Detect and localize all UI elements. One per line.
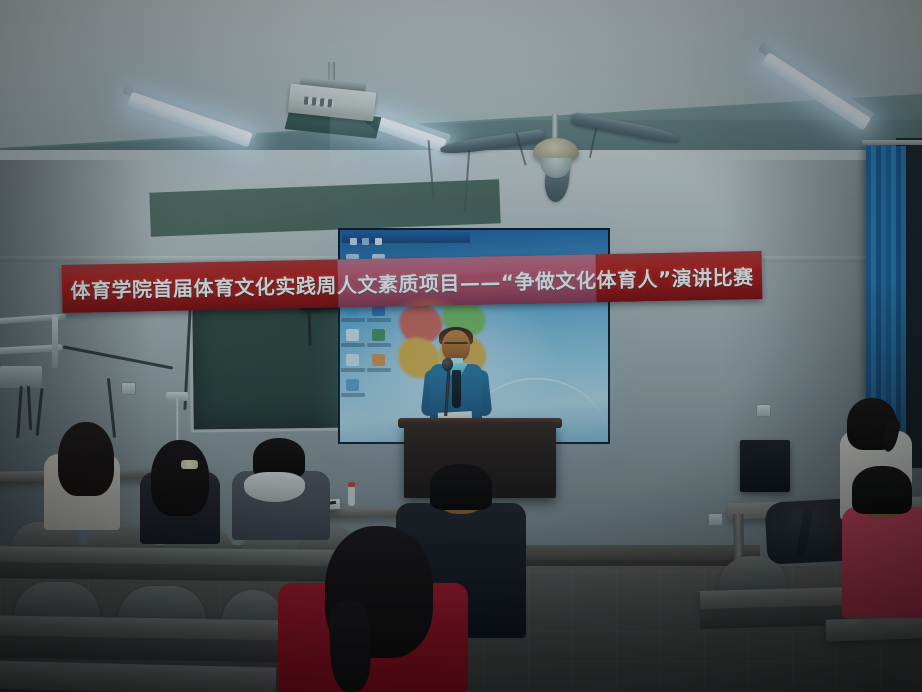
hoodie-hood [244,472,305,502]
audience-woman-beige [44,424,120,530]
ponytail [328,599,373,692]
desktop-icon-label [367,343,391,347]
eyeglasses-icon [444,342,468,350]
audience-man-pink-body [842,507,922,618]
firefox-icon[interactable] [372,354,385,366]
audience-man-pink-hair [852,466,912,514]
audience-woman-bow-hair [151,440,209,516]
power-outlet[interactable] [756,404,771,417]
tool-icon[interactable] [346,379,359,391]
wall-equipment-box [0,366,42,388]
curtain-rod [862,140,922,145]
hair-bow [181,460,198,469]
audience-person-dark-jacket-hair [430,464,492,510]
desk-right-lower [826,616,922,641]
power-outlet[interactable] [708,513,723,526]
taskbar-browser-icon[interactable] [350,238,357,245]
speaker-tie [452,370,461,408]
desktop-icon-label [367,368,391,372]
audience-man-hoodie [232,440,330,540]
audience-woman-red [278,528,468,692]
taskbar-media-icon[interactable] [375,238,382,245]
speaker-person [420,330,492,428]
audience-man-pink [842,468,922,618]
taskbar-explorer-icon[interactable] [362,238,369,245]
desktop-icon-label [341,393,365,397]
desktop-icon-label [341,343,365,347]
chat-icon[interactable] [346,354,359,366]
desktop-icon-label [341,368,365,372]
wall-rail-vertical [52,316,58,368]
desktop-icon-label [367,318,391,322]
windows-taskbar[interactable] [342,232,470,243]
equipment-cabinet [740,440,790,492]
browser-icon[interactable] [346,329,359,341]
power-outlet[interactable] [121,382,136,395]
audience-woman-beige-hair [58,422,114,496]
classroom-photo: 体育学院首届体育文化实践周人文素质项目——“争做文化体育人”演讲比赛 [0,0,922,692]
desktop-icon-label [341,318,365,322]
audience-woman-bow [140,442,220,544]
excel-icon[interactable] [372,329,385,341]
microphone [442,358,453,371]
water-bottle [348,482,355,506]
